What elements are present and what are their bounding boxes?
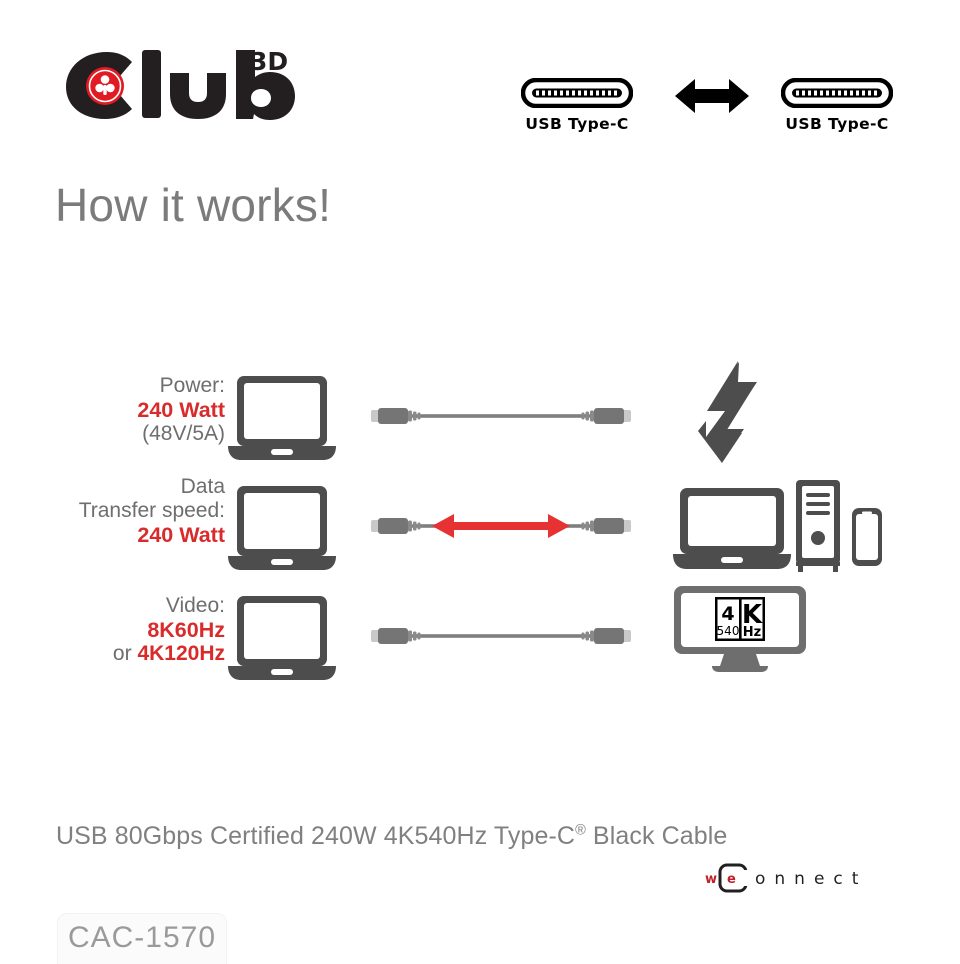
video-label-block: Video: 8K60Hz or 4K120Hz xyxy=(0,594,225,666)
poster-canvas: 3D xyxy=(0,0,960,960)
feature-row-video: Video: 8K60Hz or 4K120Hz xyxy=(0,580,960,690)
product-title-main: USB 80Gbps Certified 240W 4K540Hz Type-C xyxy=(56,822,575,850)
usb-type-c-port-icon xyxy=(781,78,893,108)
devices-laptop-desktop-phone-icon xyxy=(672,478,884,574)
lightning-bolt-icon xyxy=(694,359,768,465)
device-laptop xyxy=(673,488,791,569)
resolution-badge: 4 K 540 Hz xyxy=(715,597,765,641)
registered-mark: ® xyxy=(575,823,586,839)
part-number-box: CAC-1570 xyxy=(58,914,226,964)
feature-row-power: Power: 240 Watt (48V/5A) xyxy=(0,360,960,470)
usb-c-cable-data-transfer-icon xyxy=(370,506,632,546)
svg-text:onnect: onnect xyxy=(755,869,867,889)
data-direction-arrows xyxy=(432,514,570,538)
power-label-line-2: 240 Watt xyxy=(0,398,225,423)
laptop-icon xyxy=(226,594,338,686)
video-label-line-2: 8K60Hz xyxy=(0,618,225,643)
video-label-prefix: or xyxy=(113,642,138,665)
usb-type-c-left: USB Type-C xyxy=(497,78,657,133)
usb-c-cable-icon xyxy=(370,616,632,656)
power-label-block: Power: 240 Watt (48V/5A) xyxy=(0,374,225,446)
data-label-line-2: Transfer speed: xyxy=(0,499,225,523)
product-title-tail: Black Cable xyxy=(586,822,728,850)
laptop-icon xyxy=(226,484,338,576)
usb-type-c-left-label: USB Type-C xyxy=(497,115,657,133)
club-3d-logo: 3D xyxy=(60,48,300,122)
data-label-line-1: Data xyxy=(0,475,225,499)
badge-bottom-right: Hz xyxy=(743,625,761,640)
feature-row-data: Data Transfer speed: 240 Watt xyxy=(0,470,960,580)
data-label-line-3: 240 Watt xyxy=(0,523,225,548)
badge-bottom-left: 540 xyxy=(717,624,740,638)
bidirectional-arrow-icon xyxy=(673,76,751,116)
usb-c-cable-icon xyxy=(370,396,632,436)
usb-type-c-right-label: USB Type-C xyxy=(757,115,917,133)
svg-text:e: e xyxy=(727,872,736,887)
device-desktop-tower xyxy=(796,480,840,572)
svg-text:3D: 3D xyxy=(250,48,288,76)
power-label-line-3: (48V/5A) xyxy=(0,422,225,446)
usb-type-c-header: USB Type-C xyxy=(497,78,917,150)
laptop-icon xyxy=(226,374,338,466)
page-title: How it works! xyxy=(55,178,331,232)
product-title: USB 80Gbps Certified 240W 4K540Hz Type-C… xyxy=(56,822,727,851)
usb-type-c-right: USB Type-C xyxy=(757,78,917,133)
power-label-line-1: Power: xyxy=(0,374,225,398)
usb-type-c-port-icon xyxy=(521,78,633,108)
device-phone xyxy=(852,508,882,566)
video-label-line-1: Video: xyxy=(0,594,225,618)
data-label-block: Data Transfer speed: 240 Watt xyxy=(0,475,225,547)
video-label-line-3: or 4K120Hz xyxy=(0,642,225,666)
video-label-value: 4K120Hz xyxy=(137,642,225,665)
monitor-icon: 4 K 540 Hz xyxy=(672,584,808,674)
badge-top-left: 4 xyxy=(721,603,734,625)
part-number: CAC-1570 xyxy=(58,921,226,955)
svg-text:w: w xyxy=(705,872,717,887)
weconnect-logo: w e onnect xyxy=(703,860,943,896)
